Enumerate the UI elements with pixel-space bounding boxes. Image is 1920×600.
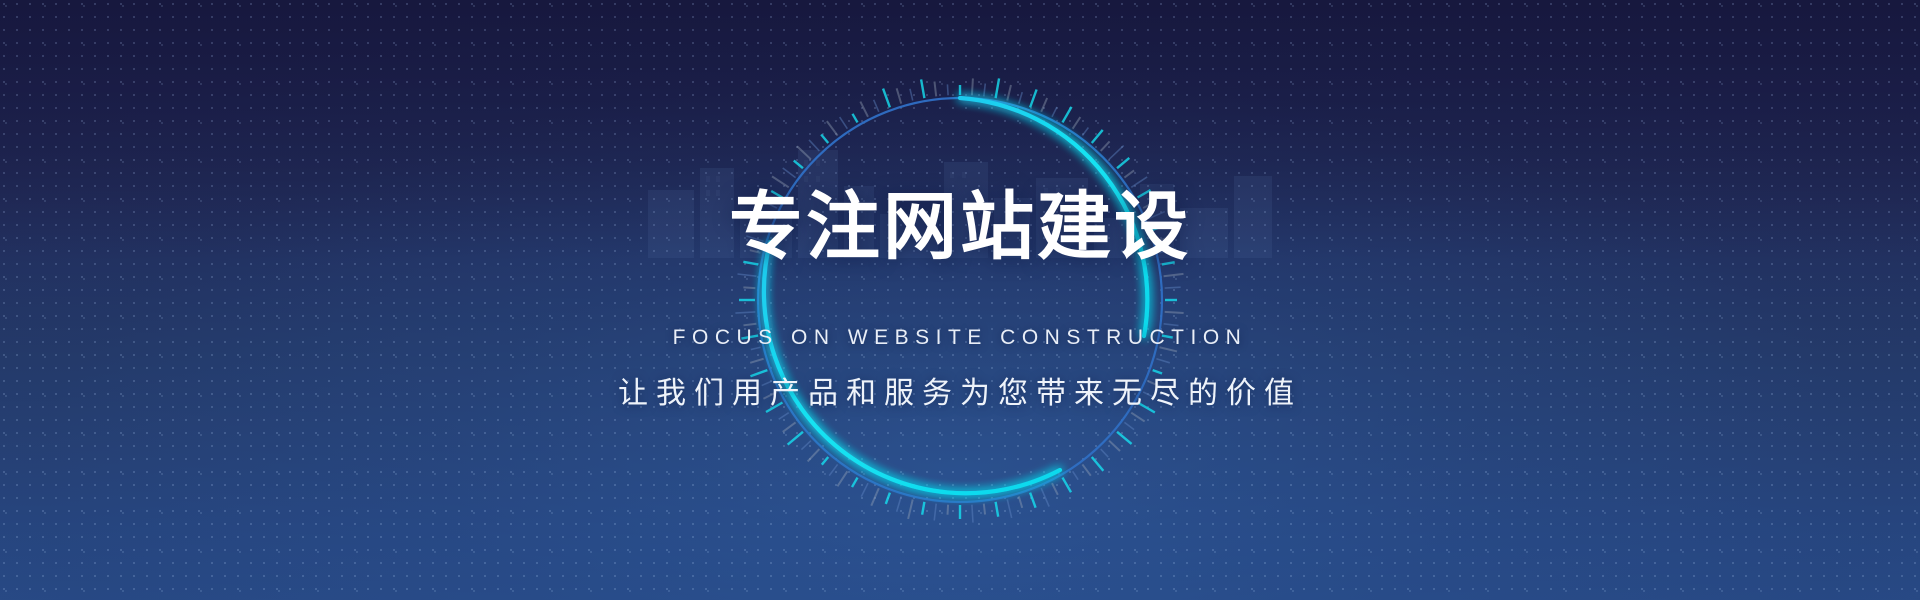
ring-tick [738,274,757,276]
ring-tick [821,135,828,143]
radial-tick-marks [735,78,1183,522]
ring-tick [743,324,756,326]
ring-tick [772,176,789,187]
ring-tick [808,449,820,461]
city-skyline-silhouette [640,128,1280,258]
ring-tick [1159,249,1176,253]
ring-tick [1162,262,1175,264]
ring-tick [735,312,755,313]
ring-tick [1164,274,1184,276]
ring-tick [797,146,811,159]
ring-tick [754,225,767,230]
dot-grid-texture [0,0,1920,600]
ring-tick [829,464,837,475]
ring-tick [1165,312,1184,313]
ring-tick [996,502,999,517]
ring-tick [1117,432,1132,444]
ring-tick [1143,203,1153,208]
ring-tick [1143,392,1155,398]
ring-tick [1063,478,1072,493]
tagline-chinese: 让我们用产品和服务为您带来无尽的价值 [0,368,1920,412]
ring-tick [783,422,796,432]
ring-tick [746,236,763,241]
ring-tick [1092,130,1103,143]
ring-tick [1082,464,1090,475]
ring-tick [874,100,879,112]
ring-tick [883,89,890,108]
ring-tick [1131,177,1147,187]
ring-tick [809,140,819,151]
ring-tick [984,83,986,96]
ring-tick [741,336,758,339]
ring-tick [1138,403,1155,413]
ring-tick [1109,441,1120,451]
ring-tick [996,78,999,98]
ring-tick [750,359,763,363]
ring-tick [762,381,772,385]
ring-tick [1153,370,1162,373]
ring-tick [948,505,949,515]
ring-tick [861,483,868,496]
hero-banner: 专注网站建设 FOCUS ON WEBSITE CONSTRUCTION 让我们… [0,0,1920,600]
ring-tick [871,488,879,505]
ring-tick [1019,92,1022,103]
ring-tick [763,215,772,219]
tech-circle-ring [730,70,1190,530]
ring-tick [1052,483,1058,495]
dot-grid-texture-secondary [0,0,1920,600]
ring-tick [750,250,761,253]
ring-tick [853,114,858,123]
ring-tick [972,78,973,95]
ring-tick [1156,359,1169,363]
ring-tick [984,504,985,515]
ring-tick [947,84,948,95]
ring-accent-arc-top [960,98,1147,336]
ring-tick [1138,190,1151,198]
ring-tick [1073,471,1078,479]
ring-tick [794,161,803,169]
ring-tick [921,79,924,98]
ring-tick [1148,381,1164,388]
ring-tick [922,502,924,515]
ring-tick [837,471,847,486]
ring-tick [897,496,902,511]
ring-tick [1148,212,1165,219]
ring-tick [763,392,776,399]
ring-tick [1082,128,1088,136]
ring-tick [1030,493,1035,508]
ring-tick [1109,146,1124,160]
ring-tick [840,117,848,129]
ring-tick [1073,117,1081,129]
ring-tick [1101,141,1110,150]
ring-tick [934,81,936,96]
ring-tick [771,191,782,198]
ring-accent-arc-bottom [764,242,1060,493]
ring-tick [908,499,913,518]
ring-tick [1165,287,1181,288]
ring-tick [751,347,761,349]
ring-tick [801,441,810,450]
ring-tick [1131,413,1144,422]
ring-tick [1101,449,1109,457]
ring-tick [1124,170,1134,177]
ring-tick [788,432,803,445]
ring-tick [897,88,902,103]
ring-tick [1162,336,1173,338]
ring-tick [762,200,777,208]
ring-tick [1124,422,1134,429]
ring-tick [743,262,758,265]
ring-tick [1164,324,1179,326]
ring-tick [783,168,796,178]
ring-tick [779,413,789,420]
background-top-shade [0,0,1920,260]
ring-tick [972,505,973,523]
ring-tick [1041,98,1047,112]
page-title: 专注网站建设 [0,190,1920,264]
ring-tick [1052,107,1057,117]
ring-tick [886,493,890,504]
ring-tick [822,457,828,465]
ring-tick [1007,499,1011,517]
ring-tick [1159,347,1177,351]
ring-tick [1019,496,1022,507]
ring-tick [766,403,782,413]
ring-tick [1153,225,1166,230]
ring-tick [1007,85,1011,101]
subtitle-english: FOCUS ON WEBSITE CONSTRUCTION [0,326,1920,350]
ring-base-circle [758,98,1162,502]
ring-tick [1117,158,1129,168]
ring-tick [852,478,858,488]
ring-tick [910,89,913,101]
ring-tick [1030,90,1037,108]
ring-tick [1156,238,1166,241]
ring-tick [934,504,936,521]
ring-tick [1063,107,1072,123]
ring-tick [827,121,838,135]
ring-tick [743,287,755,288]
ring-tick [1092,457,1104,471]
ring-tick [860,102,868,117]
ring-tick [750,370,767,376]
background-glow [0,18,1920,600]
ring-tick [1041,488,1049,506]
